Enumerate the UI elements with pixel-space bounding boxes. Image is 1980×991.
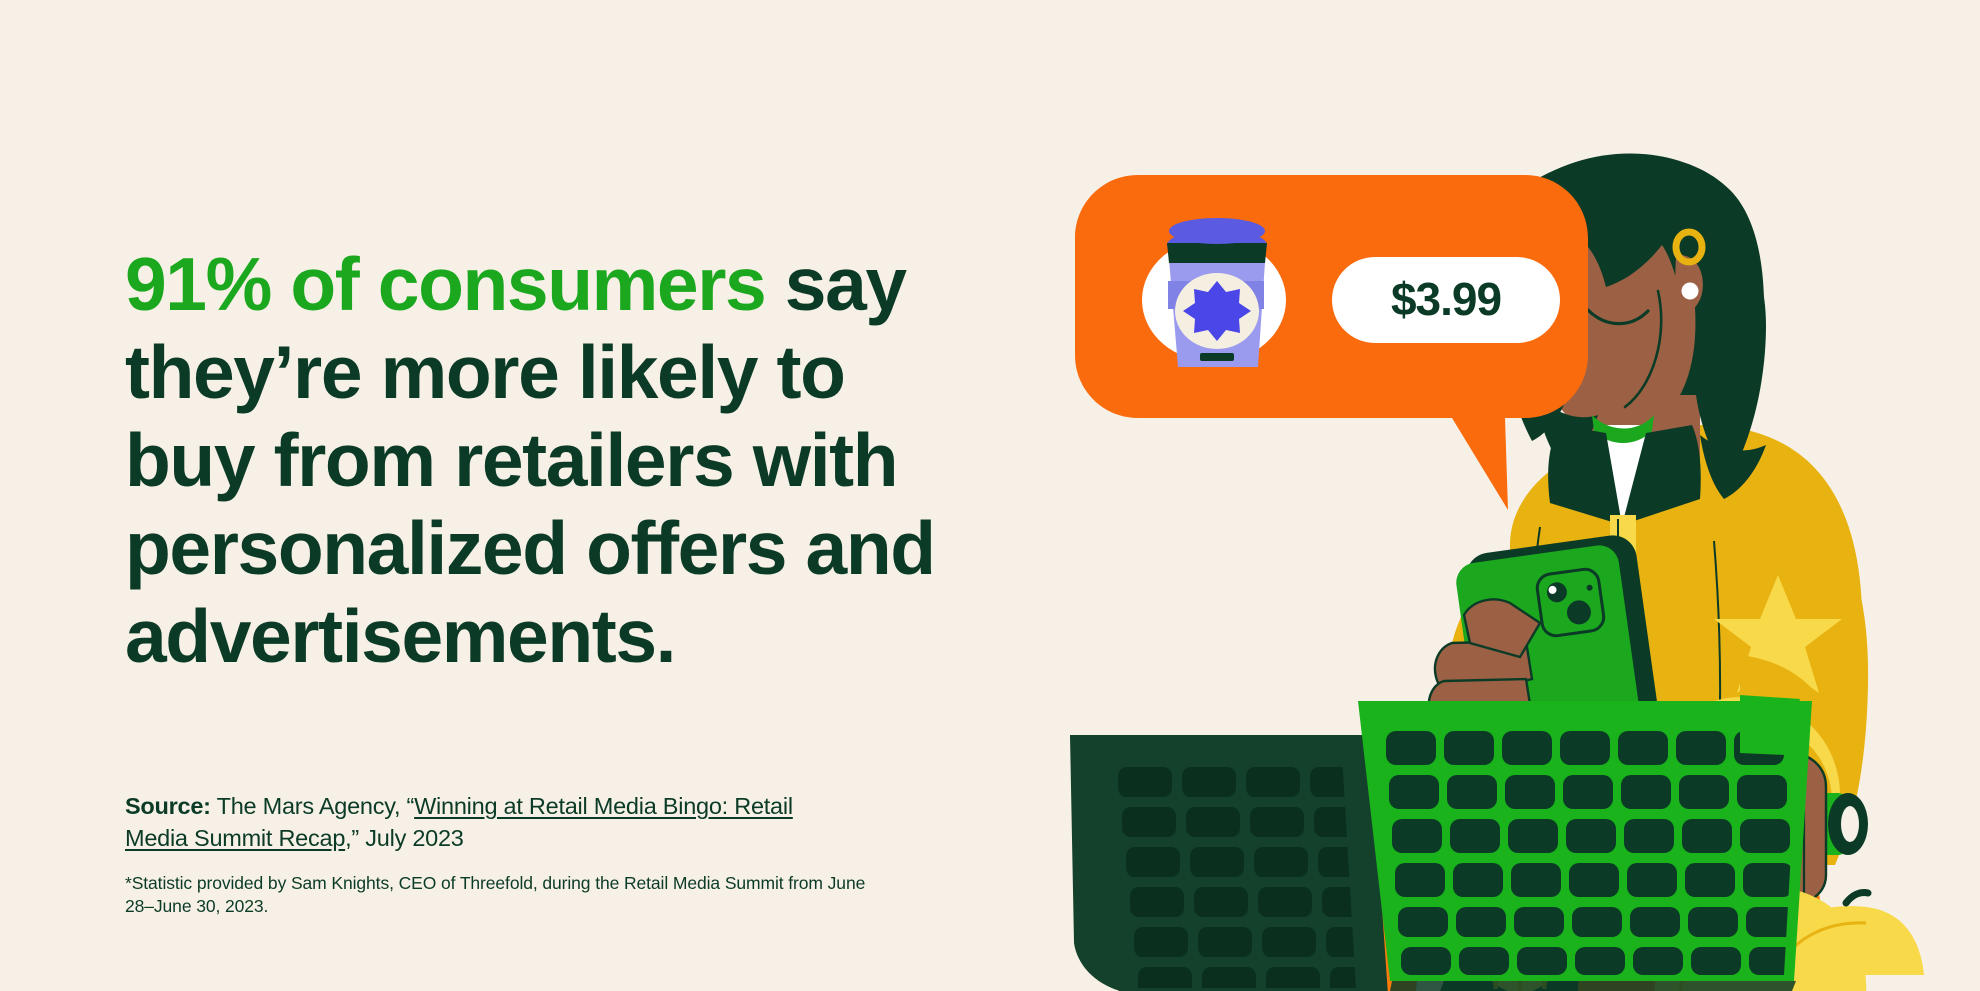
product-jar-icon: [1167, 218, 1267, 367]
text-column: 91% of consumers say they’re more likely…: [125, 0, 965, 991]
headline-accent: 91% of consumers: [125, 242, 765, 326]
footnote: *Statistic provided by Sam Knights, CEO …: [125, 872, 885, 917]
headline: 91% of consumers say they’re more likely…: [125, 240, 955, 680]
source-link-continued[interactable]: Media Summit Recap: [125, 825, 345, 851]
price-text: $3.99: [1391, 273, 1501, 325]
phone-camera-icon: [1535, 567, 1605, 637]
price-speech-bubble: $3.99: [1075, 175, 1588, 510]
price-tag: $3.99: [1332, 257, 1560, 343]
source-closing: ,” July 2023: [345, 825, 463, 851]
cart-front-panel: [1358, 695, 1812, 981]
cart-back-panel: [1070, 735, 1388, 991]
source-line-2: Media Summit Recap,” July 2023: [125, 822, 915, 854]
source-line: Source: The Mars Agency, “Winning at Ret…: [125, 790, 915, 822]
infographic-poster: 91% of consumers say they’re more likely…: [0, 0, 1980, 991]
stud-earring-icon: [1682, 283, 1699, 300]
source-label: Source:: [125, 793, 211, 819]
source-link[interactable]: Winning at Retail Media Bingo: Retail: [414, 793, 793, 819]
source-publisher: The Mars Agency, “: [211, 793, 414, 819]
shopper-illustration: $3.99: [1040, 95, 1980, 991]
source-block: Source: The Mars Agency, “Winning at Ret…: [125, 790, 915, 854]
